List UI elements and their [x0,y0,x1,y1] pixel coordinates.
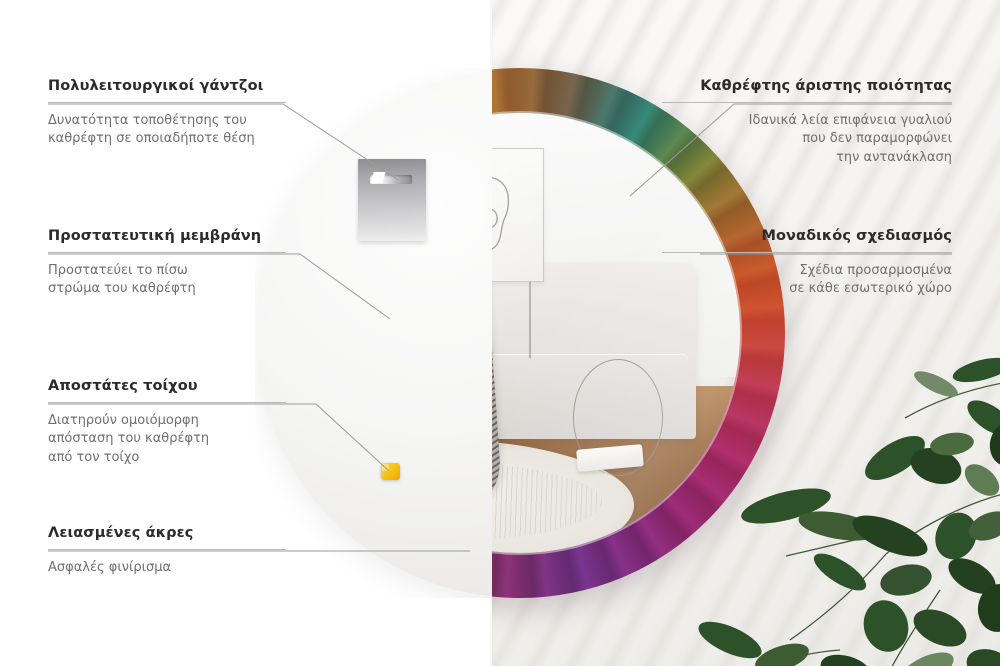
callout-unique-design-title: Μοναδικός σχεδιασμός [662,228,952,244]
callout-membrane-rule [48,252,286,253]
callout-wall-spacers-rule [48,402,286,403]
callout-smooth-edges-description: Ασφαλές φινίρισμα [48,559,286,577]
sofa-cushion-seam [529,277,531,358]
callout-quality-mirror: Καθρέφτης άριστης ποιότητας Ιδανικά λεία… [662,78,952,167]
hook-plate [358,159,426,241]
callout-hooks-description: Δυνατότητα τοποθέτησης τουκαθρέφτη σε οπ… [48,112,286,149]
line-art-face-icon [492,160,533,271]
callout-quality-mirror-description: Ιδανικά λεία επιφάνεια γυαλιούπου δεν πα… [662,112,952,167]
callout-smooth-edges-rule [48,549,286,550]
callout-wall-spacers-description: Διατηρούν ομοιόμορφηαπόσταση του καθρέφτ… [48,412,286,467]
callout-smooth-edges-title: Λειασμένες άκρες [48,525,286,541]
callout-smooth-edges: Λειασμένες άκρες Ασφαλές φινίρισμα [48,525,286,577]
callout-wall-spacers-title: Αποστάτες τοίχου [48,378,286,394]
callout-membrane: Προστατευτική μεμβράνη Προστατεύει το πί… [48,228,286,299]
infographic-canvas: Πολυλειτουργικοί γάντζοι Δυνατότητα τοπο… [0,0,1000,666]
hook-slot-icon [370,175,412,184]
mirror-glass [492,113,740,553]
callout-unique-design: Μοναδικός σχεδιασμός Σχέδια προσαρμοσμέν… [662,228,952,299]
callout-quality-mirror-rule [662,102,952,103]
callout-membrane-description: Προστατεύει το πίσωστρώμα του καθρέφτη [48,262,286,299]
reflected-line-art-poster [492,148,544,282]
wall-spacer [381,463,400,480]
callout-membrane-title: Προστατευτική μεμβράνη [48,228,286,244]
callout-unique-design-rule [662,252,952,253]
callout-unique-design-description: Σχέδια προσαρμοσμένασε κάθε εσωτερικό χώ… [662,262,952,299]
callout-quality-mirror-title: Καθρέφτης άριστης ποιότητας [662,78,952,94]
callout-hooks-title: Πολυλειτουργικοί γάντζοι [48,78,286,94]
callout-hooks-rule [48,102,286,103]
callout-wall-spacers: Αποστάτες τοίχου Διατηρούν ομοιόμορφηαπό… [48,378,286,467]
callout-hooks: Πολυλειτουργικοί γάντζοι Δυνατότητα τοπο… [48,78,286,149]
